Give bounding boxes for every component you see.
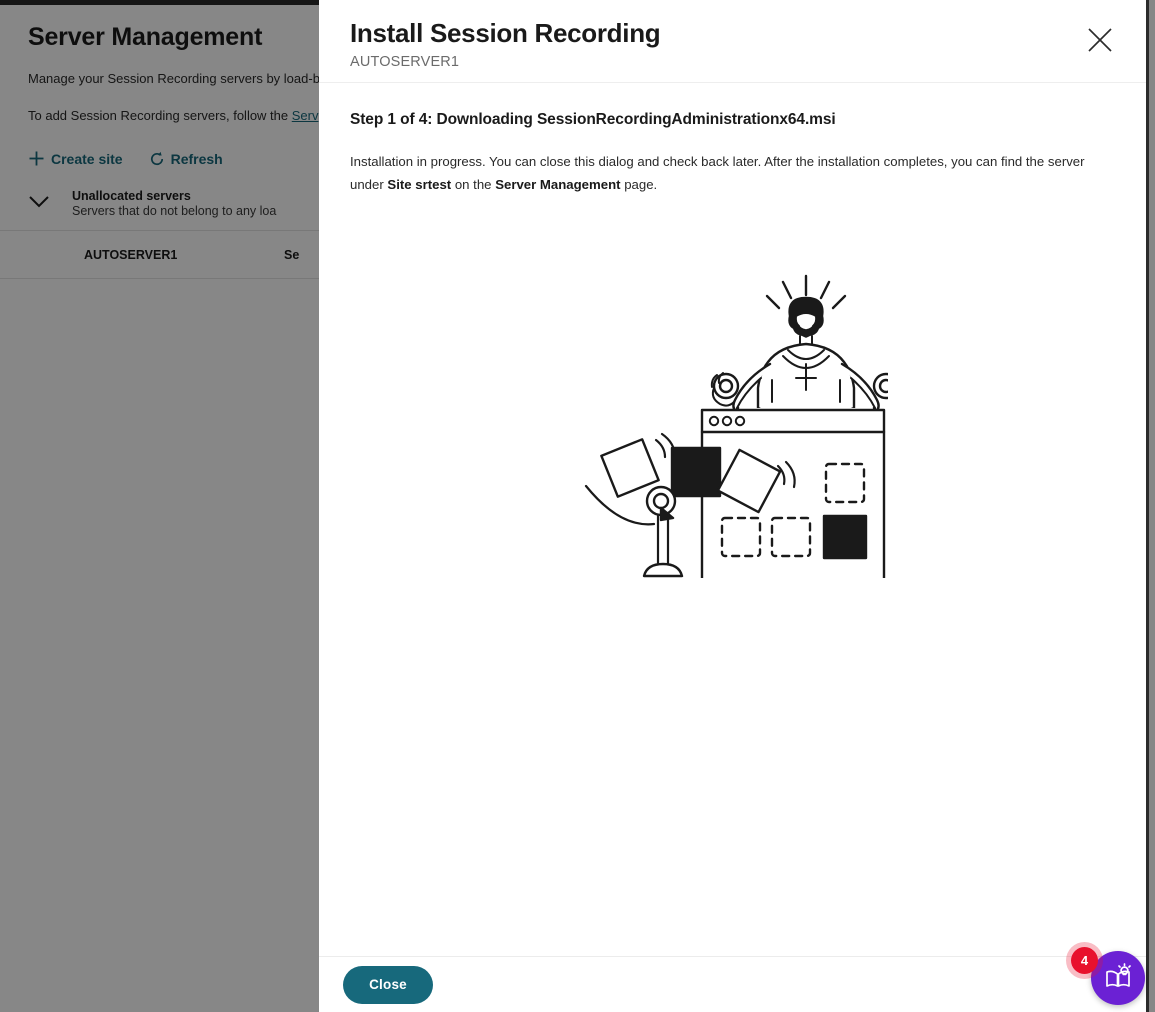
guide-book-glyph (1103, 963, 1133, 993)
guide-book-icon[interactable]: 4 (1091, 951, 1145, 1005)
progress-text-page: Server Management (495, 177, 620, 192)
screen-root: Server Management Manage your Session Re… (0, 0, 1155, 1012)
meditating-person-illustration (578, 268, 888, 578)
help-badge-count: 4 (1071, 947, 1098, 974)
dialog-body: Step 1 of 4: Downloading SessionRecordin… (319, 83, 1146, 956)
close-button[interactable]: Close (343, 966, 433, 1004)
install-session-recording-dialog: Install Session Recording AUTOSERVER1 St… (319, 0, 1149, 1012)
progress-description: Installation in progress. You can close … (350, 150, 1115, 196)
dialog-header: Install Session Recording AUTOSERVER1 (319, 0, 1146, 83)
dialog-title: Install Session Recording (350, 16, 1116, 50)
dialog-footer: Close (319, 956, 1146, 1012)
illustration-wrapper (350, 268, 1115, 578)
close-icon[interactable] (1080, 20, 1120, 60)
progress-text-site: Site srtest (387, 177, 451, 192)
step-heading: Step 1 of 4: Downloading SessionRecordin… (350, 111, 1115, 129)
dialog-subtitle: AUTOSERVER1 (350, 54, 1116, 70)
progress-text-part3: page. (621, 177, 658, 192)
progress-text-part2: on the (451, 177, 495, 192)
